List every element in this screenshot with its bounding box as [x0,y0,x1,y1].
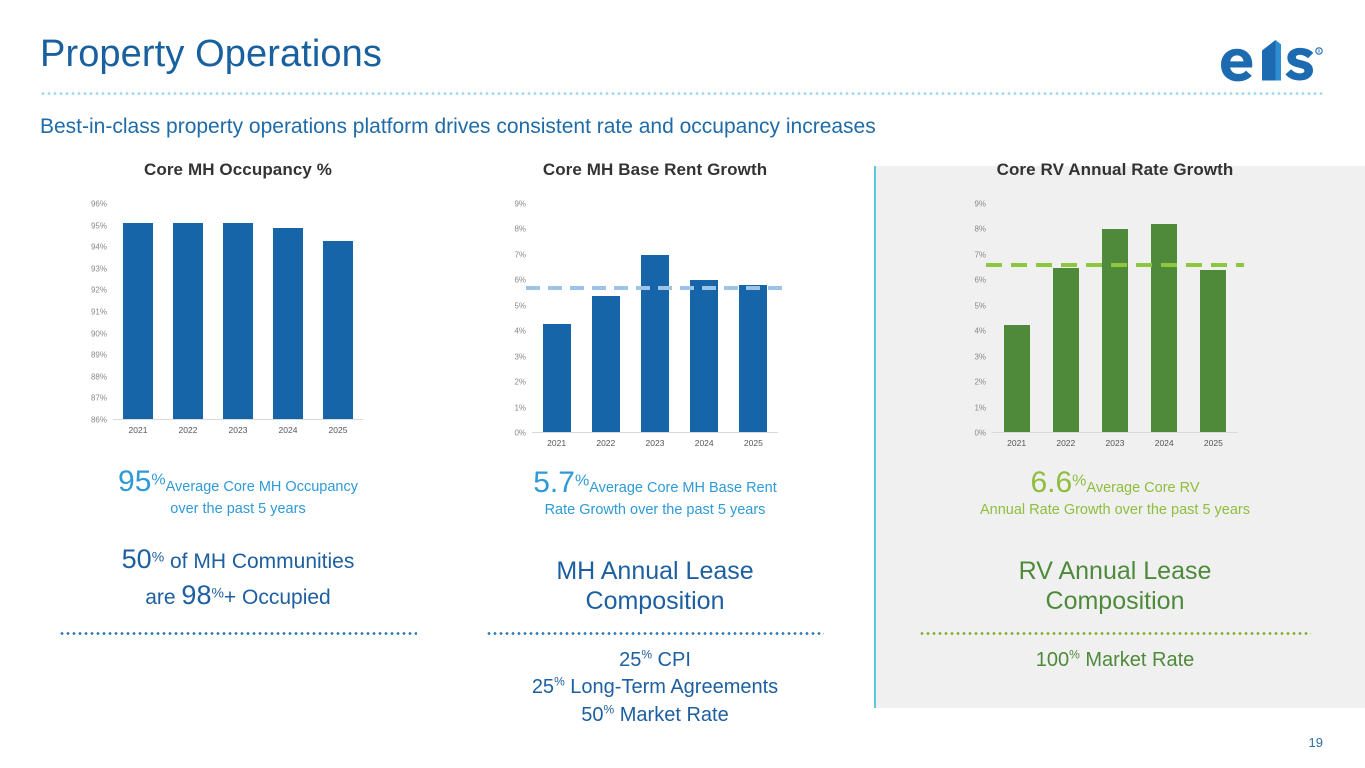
x-axis-tick-label: 2024 [279,425,298,435]
stat-value: 95 [118,465,151,498]
x-axis-tick-label: 2025 [329,425,348,435]
y-axis-tick-label: 0% [974,429,986,438]
x-axis-tick-label: 2023 [1106,438,1125,448]
y-axis-tick-label: 4% [974,327,986,336]
y-axis-tick-label: 8% [514,225,526,234]
y-axis-tick-label: 3% [514,352,526,361]
y-axis-tick-label: 87% [91,394,107,403]
heading-line-1: RV Annual Lease [880,557,1350,587]
x-axis-tick-label: 2025 [744,438,763,448]
bar-2023 [641,255,669,433]
chart-mh-base-rent: 0%1%2%3%4%5%6%7%8%9%20212022202320242025 [532,204,778,433]
bar-2023 [223,223,253,420]
x-axis-tick-label: 2022 [179,425,198,435]
y-axis-tick-label: 88% [91,372,107,381]
x-axis-tick-label: 2024 [695,438,714,448]
x-axis-tick-label: 2022 [596,438,615,448]
rv-panel-accent-bar [874,166,876,708]
composition-value: 50 [581,704,603,726]
stat-value: 5.7 [533,466,575,499]
y-axis-tick-label: 9% [514,200,526,209]
stat-percent-sign: % [151,472,165,489]
stat-caption-line-1: Average Core MH Occupancy [166,479,358,495]
composition-percent-sign: % [554,675,565,689]
y-axis-tick-label: 93% [91,264,107,273]
composition-percent-sign: % [641,648,652,662]
divider-rv-composition [919,632,1311,635]
list-item: 100% Market Rate [880,647,1350,674]
highlight-line-1: 50% of MH Communities [28,542,448,578]
bar-2023 [1102,229,1128,433]
y-axis-tick-label: 2% [974,378,986,387]
y-axis-tick-label: 1% [974,403,986,412]
x-axis-tick-label: 2023 [229,425,248,435]
y-axis-tick-label: 9% [974,200,986,209]
page-title: Property Operations [40,34,382,76]
list-item: 25% Long-Term Agreements [455,674,855,701]
highlight-line-2: are 98%+ Occupied [28,578,448,614]
bar-2022 [592,296,620,433]
y-axis-tick-label: 95% [91,221,107,230]
bar-2025 [323,241,353,420]
y-axis-tick-label: 4% [514,327,526,336]
y-axis-tick-label: 94% [91,243,107,252]
heading-mh-lease-composition: MH Annual Lease Composition [455,557,855,616]
x-axis-tick-label: 2022 [1056,438,1075,448]
chart-baseline [113,419,363,420]
stat-percent-sign: % [1072,473,1086,490]
composition-value: 25 [532,676,554,698]
chart-title-mh-occupancy: Core MH Occupancy % [28,160,448,180]
highlight-label-2: + Occupied [224,586,331,609]
stat-caption-line-2: Annual Rate Growth over the past 5 years [880,502,1350,520]
chart-rv-annual-rate: 0%1%2%3%4%5%6%7%8%9%20212022202320242025 [992,204,1238,433]
y-axis-tick-label: 5% [974,301,986,310]
bar-2024 [690,280,718,433]
bar-2024 [1151,224,1177,433]
composition-percent-sign: % [604,702,615,716]
composition-label: CPI [652,649,691,671]
y-axis-tick-label: 89% [91,351,107,360]
divider-mh-occupancy [59,632,417,635]
composition-label: Long-Term Agreements [565,676,778,698]
x-axis-tick-label: 2021 [129,425,148,435]
stat-caption-line-1: Average Core RV [1086,480,1199,496]
heading-line-2: Composition [880,587,1350,617]
y-axis-tick-label: 90% [91,329,107,338]
composition-value: 25 [619,649,641,671]
highlight-percent-sign: % [152,549,164,565]
bar-2021 [123,223,153,420]
y-axis-tick-label: 7% [514,250,526,259]
y-axis-tick-label: 96% [91,200,107,209]
composition-percent-sign: % [1069,648,1080,662]
y-axis-tick-label: 3% [974,352,986,361]
bar-2021 [1004,325,1030,433]
highlight-prefix: are [145,586,181,609]
bar-2025 [739,285,767,433]
composition-label: Market Rate [614,704,728,726]
chart-baseline [992,432,1238,433]
x-axis-tick-label: 2021 [547,438,566,448]
stat-mh-base-rent: 5.7%Average Core MH Base Rent Rate Growt… [455,465,855,519]
y-axis-tick-label: 5% [514,301,526,310]
y-axis-tick-label: 2% [514,378,526,387]
page-number: 19 [1309,735,1323,750]
stat-percent-sign: % [575,473,589,490]
stat-caption-line-2: over the past 5 years [28,501,448,519]
heading-line-1: MH Annual Lease [455,557,855,587]
stat-value: 6.6 [1030,466,1072,499]
y-axis-tick-label: 7% [974,250,986,259]
page-subtitle: Best-in-class property operations platfo… [40,114,876,140]
stat-caption-line-2: Rate Growth over the past 5 years [455,502,855,520]
bar-2024 [273,228,303,420]
highlight-value: 50 [122,544,152,574]
chart-mh-occupancy: 86%87%88%89%90%91%92%93%94%95%96%2021202… [113,204,363,420]
y-axis-tick-label: 6% [514,276,526,285]
bar-2022 [173,223,203,420]
highlight-mh-communities: 50% of MH Communities are 98%+ Occupied [28,542,448,613]
chart-title-mh-base-rent: Core MH Base Rent Growth [455,160,855,180]
y-axis-tick-label: 1% [514,403,526,412]
x-axis-tick-label: 2023 [646,438,665,448]
header-divider [40,92,1325,95]
stat-caption-line-1: Average Core MH Base Rent [589,480,777,496]
heading-rv-lease-composition: RV Annual Lease Composition [880,557,1350,616]
y-axis-tick-label: 6% [974,276,986,285]
bar-2021 [543,324,571,433]
list-rv-composition: 100% Market Rate [880,647,1350,674]
y-axis-tick-label: 0% [514,429,526,438]
column-rv-annual-rate: Core RV Annual Rate Growth 0%1%2%3%4%5%6… [880,160,1350,720]
y-axis-tick-label: 91% [91,308,107,317]
column-mh-occupancy: Core MH Occupancy % 86%87%88%89%90%91%92… [28,160,448,720]
stat-rv-annual-rate: 6.6%Average Core RV Annual Rate Growth o… [880,465,1350,519]
x-axis-tick-label: 2025 [1204,438,1223,448]
els-logo: R [1217,34,1323,84]
x-axis-tick-label: 2024 [1155,438,1174,448]
bar-2022 [1053,268,1079,433]
x-axis-tick-label: 2021 [1007,438,1026,448]
average-reference-line [986,263,1244,267]
list-item: 50% Market Rate [455,702,855,729]
column-mh-base-rent: Core MH Base Rent Growth 0%1%2%3%4%5%6%7… [455,160,855,720]
heading-line-2: Composition [455,587,855,617]
highlight-percent-sign-2: % [211,585,223,601]
chart-baseline [532,432,778,433]
svg-text:R: R [1317,49,1320,55]
y-axis-tick-label: 8% [974,225,986,234]
list-mh-composition: 25% CPI 25% Long-Term Agreements 50% Mar… [455,647,855,729]
list-item: 25% CPI [455,647,855,674]
stat-mh-occupancy: 95%Average Core MH Occupancy over the pa… [28,464,448,518]
average-reference-line [526,286,784,290]
bar-2025 [1200,270,1226,433]
chart-title-rv-annual-rate: Core RV Annual Rate Growth [880,160,1350,180]
highlight-value-2: 98 [181,580,211,610]
y-axis-tick-label: 86% [91,416,107,425]
composition-value: 100 [1036,649,1069,671]
highlight-label: of MH Communities [164,550,354,573]
y-axis-tick-label: 92% [91,286,107,295]
divider-mh-composition [486,632,824,635]
composition-label: Market Rate [1080,649,1194,671]
